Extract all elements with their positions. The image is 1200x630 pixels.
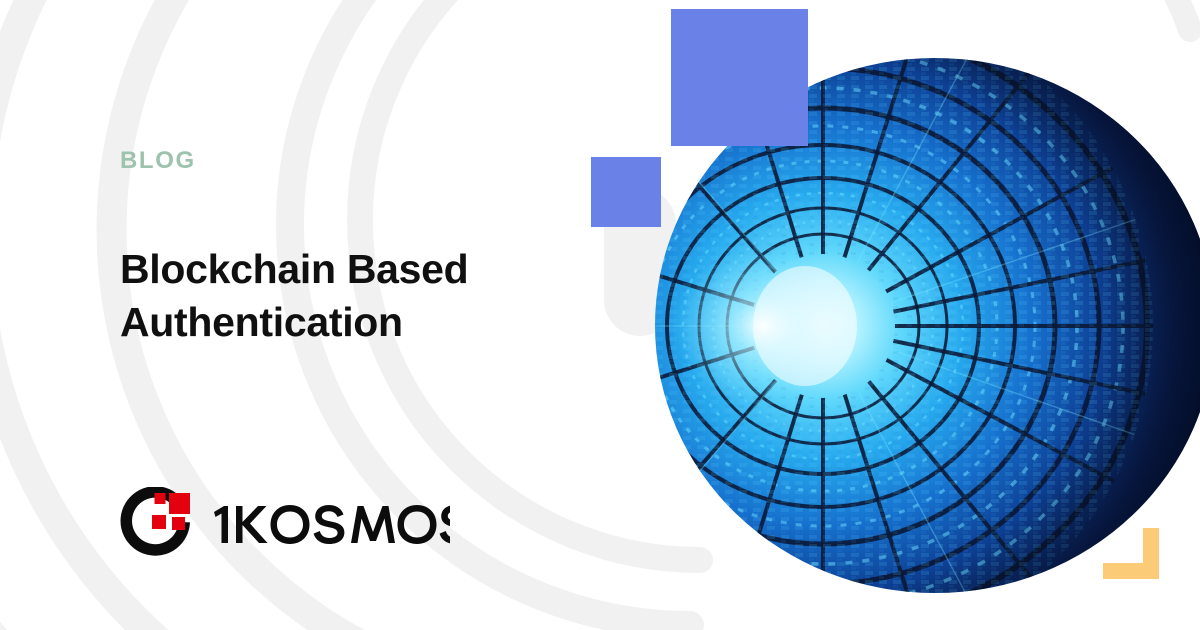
yellow-corner-bracket (1103, 528, 1159, 579)
1kosmos-circle-squares-mark (120, 487, 194, 561)
small-blue-square (591, 157, 661, 227)
blog-social-card: BLOG Blockchain Based Authentication 1KO… (0, 0, 1200, 630)
1kosmos-wordmark: 1KOSMOS (210, 499, 450, 549)
page-title: Blockchain Based Authentication (120, 243, 590, 349)
brand-logo-lockup[interactable]: 1KOSMOS (120, 487, 450, 561)
large-blue-square (671, 9, 808, 146)
category-eyebrow: BLOG (120, 149, 196, 173)
